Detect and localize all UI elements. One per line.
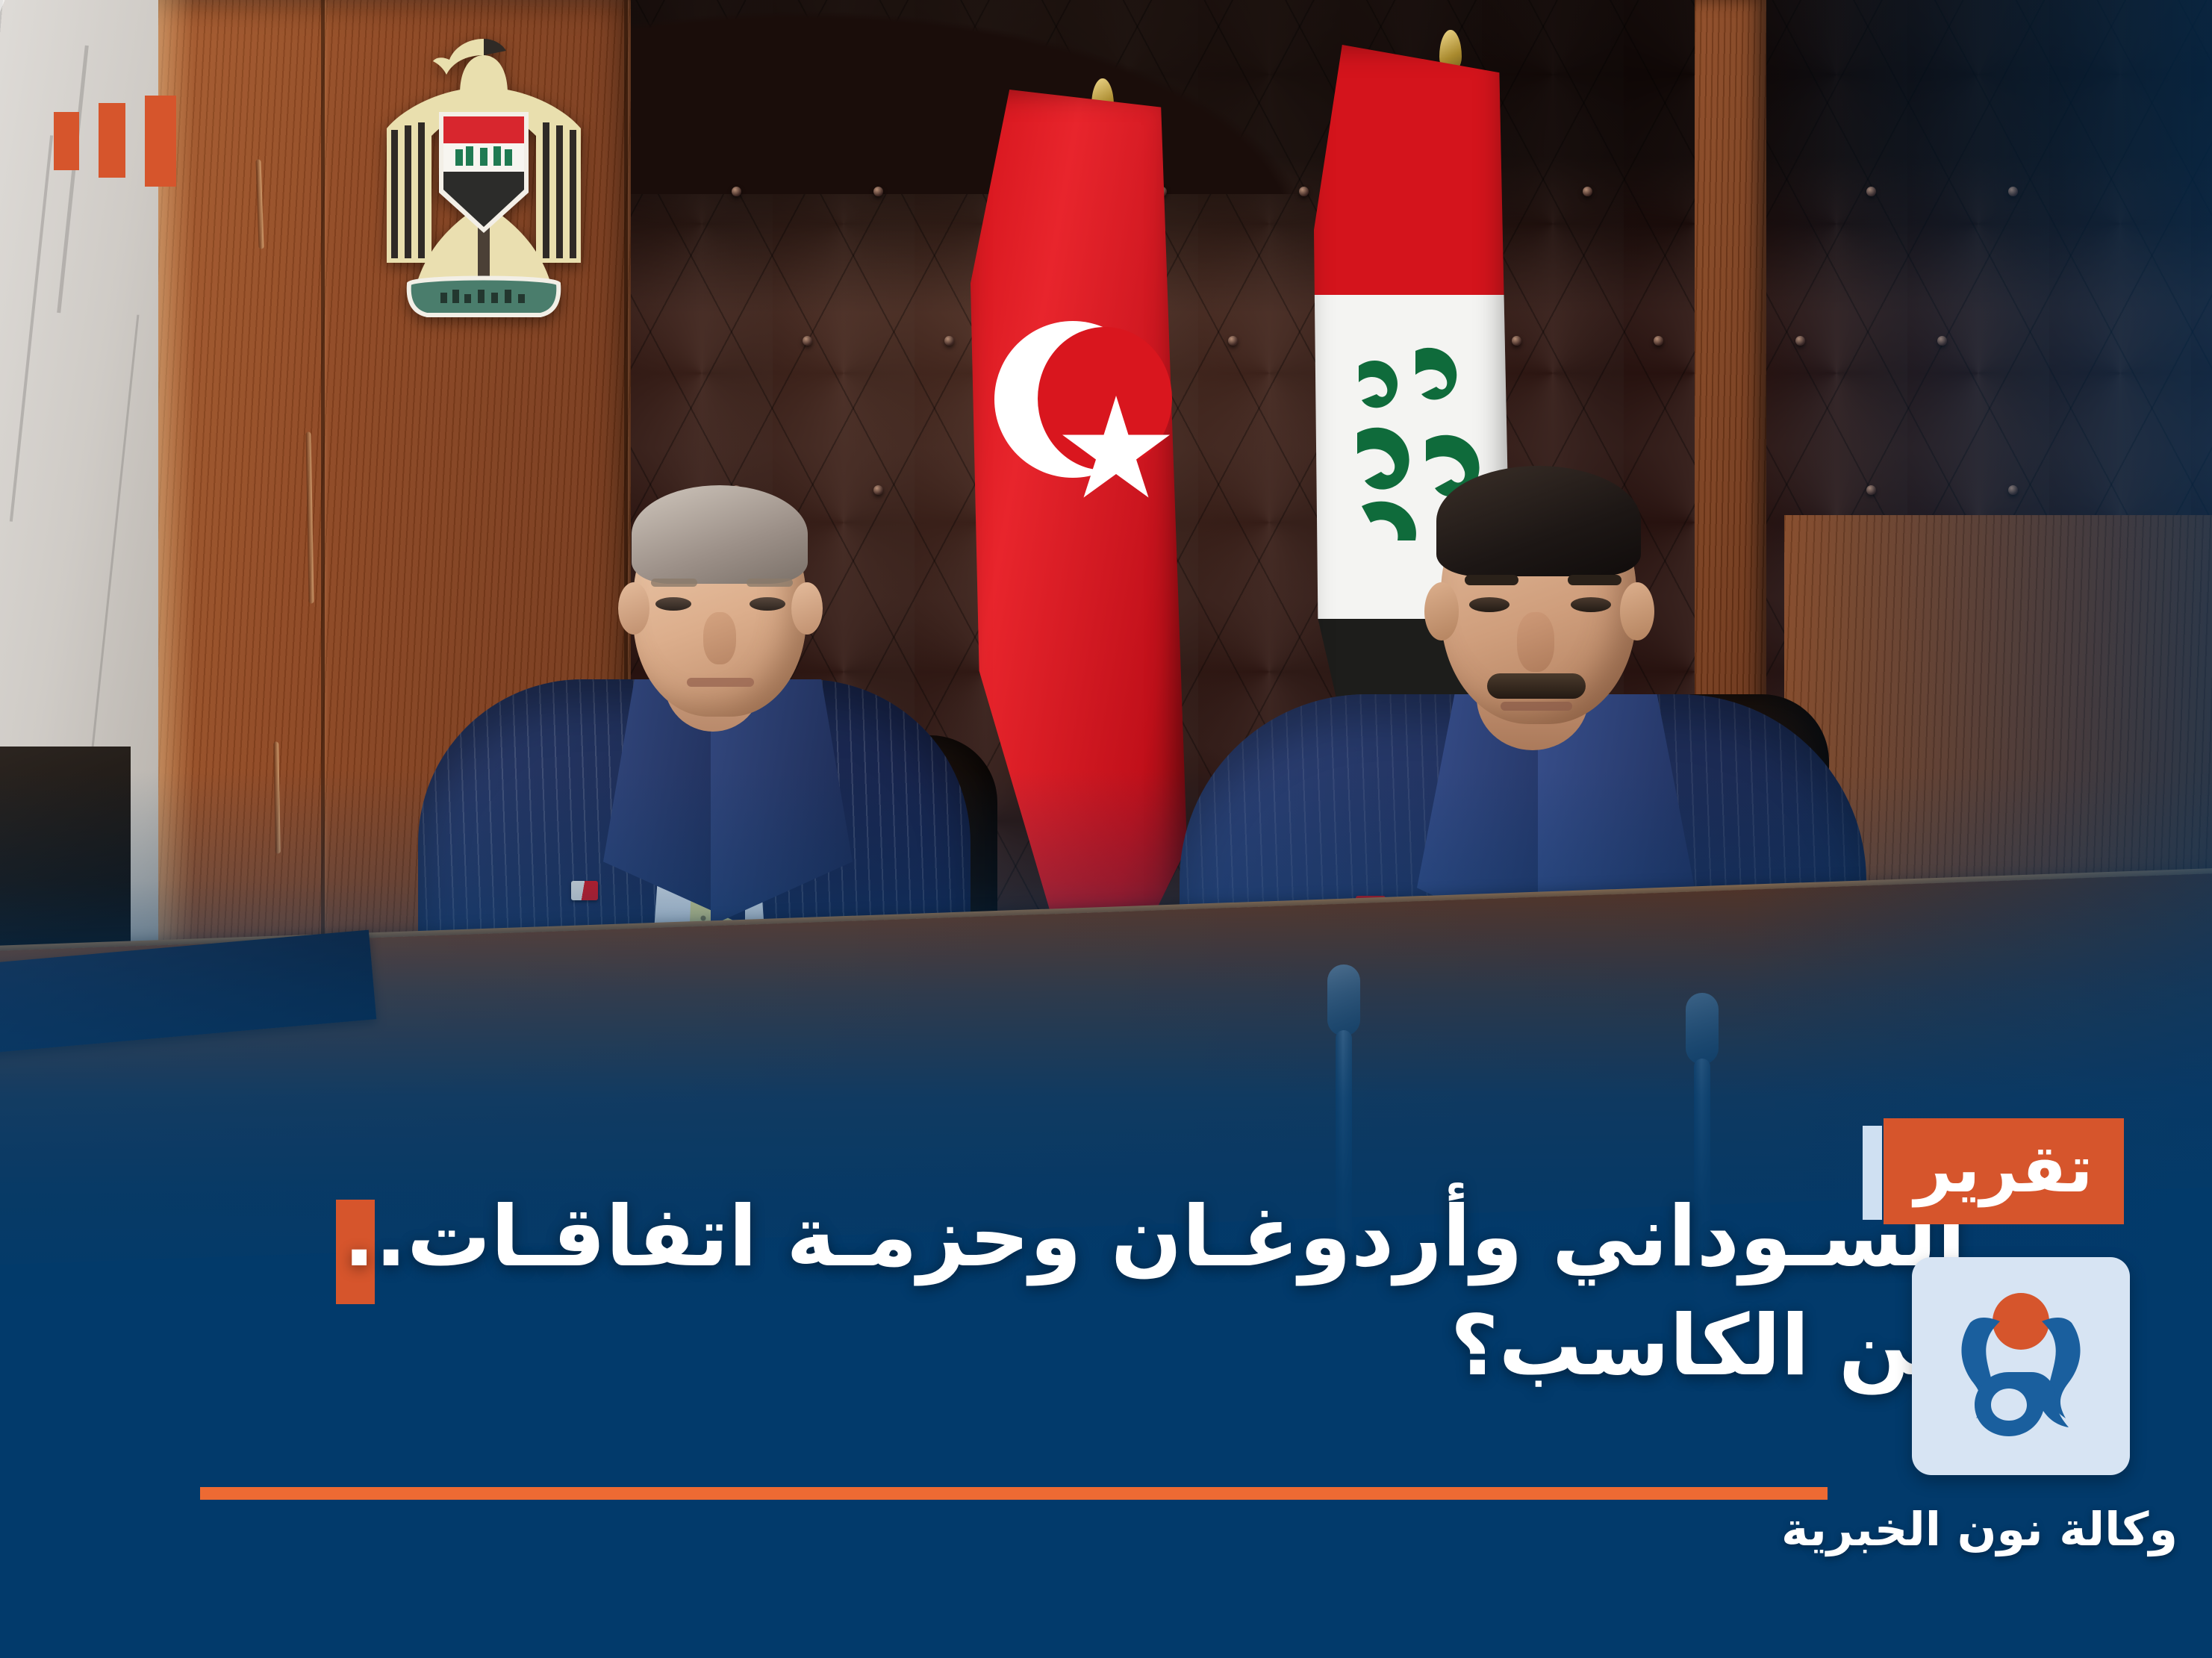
tick-bar-2 bbox=[99, 103, 125, 178]
headline-line-2: من الكاسب؟ bbox=[271, 1292, 1966, 1401]
tick-bar-3 bbox=[54, 112, 79, 170]
tick-bar-1 bbox=[145, 96, 176, 187]
status-badge: تقرير bbox=[1884, 1118, 2125, 1224]
orange-divider-icon bbox=[200, 1487, 1828, 1500]
noon-agency-logo-icon[interactable] bbox=[1912, 1257, 2130, 1475]
page-title: السـوداني وأردوغـان وحزمـة اتفاقـات.. من… bbox=[271, 1183, 1966, 1400]
headline-line-1: السـوداني وأردوغـان وحزمـة اتفاقـات.. bbox=[271, 1183, 1966, 1292]
news-report-card: السـوداني وأردوغـان وحزمـة اتفاقـات.. من… bbox=[0, 0, 2212, 1658]
orange-tick-marks-icon bbox=[54, 96, 176, 187]
brand-block: تقرير وكالة نون الخبرية bbox=[1864, 1118, 2178, 1556]
agency-name: وكالة نون الخبرية bbox=[1864, 1502, 2178, 1556]
